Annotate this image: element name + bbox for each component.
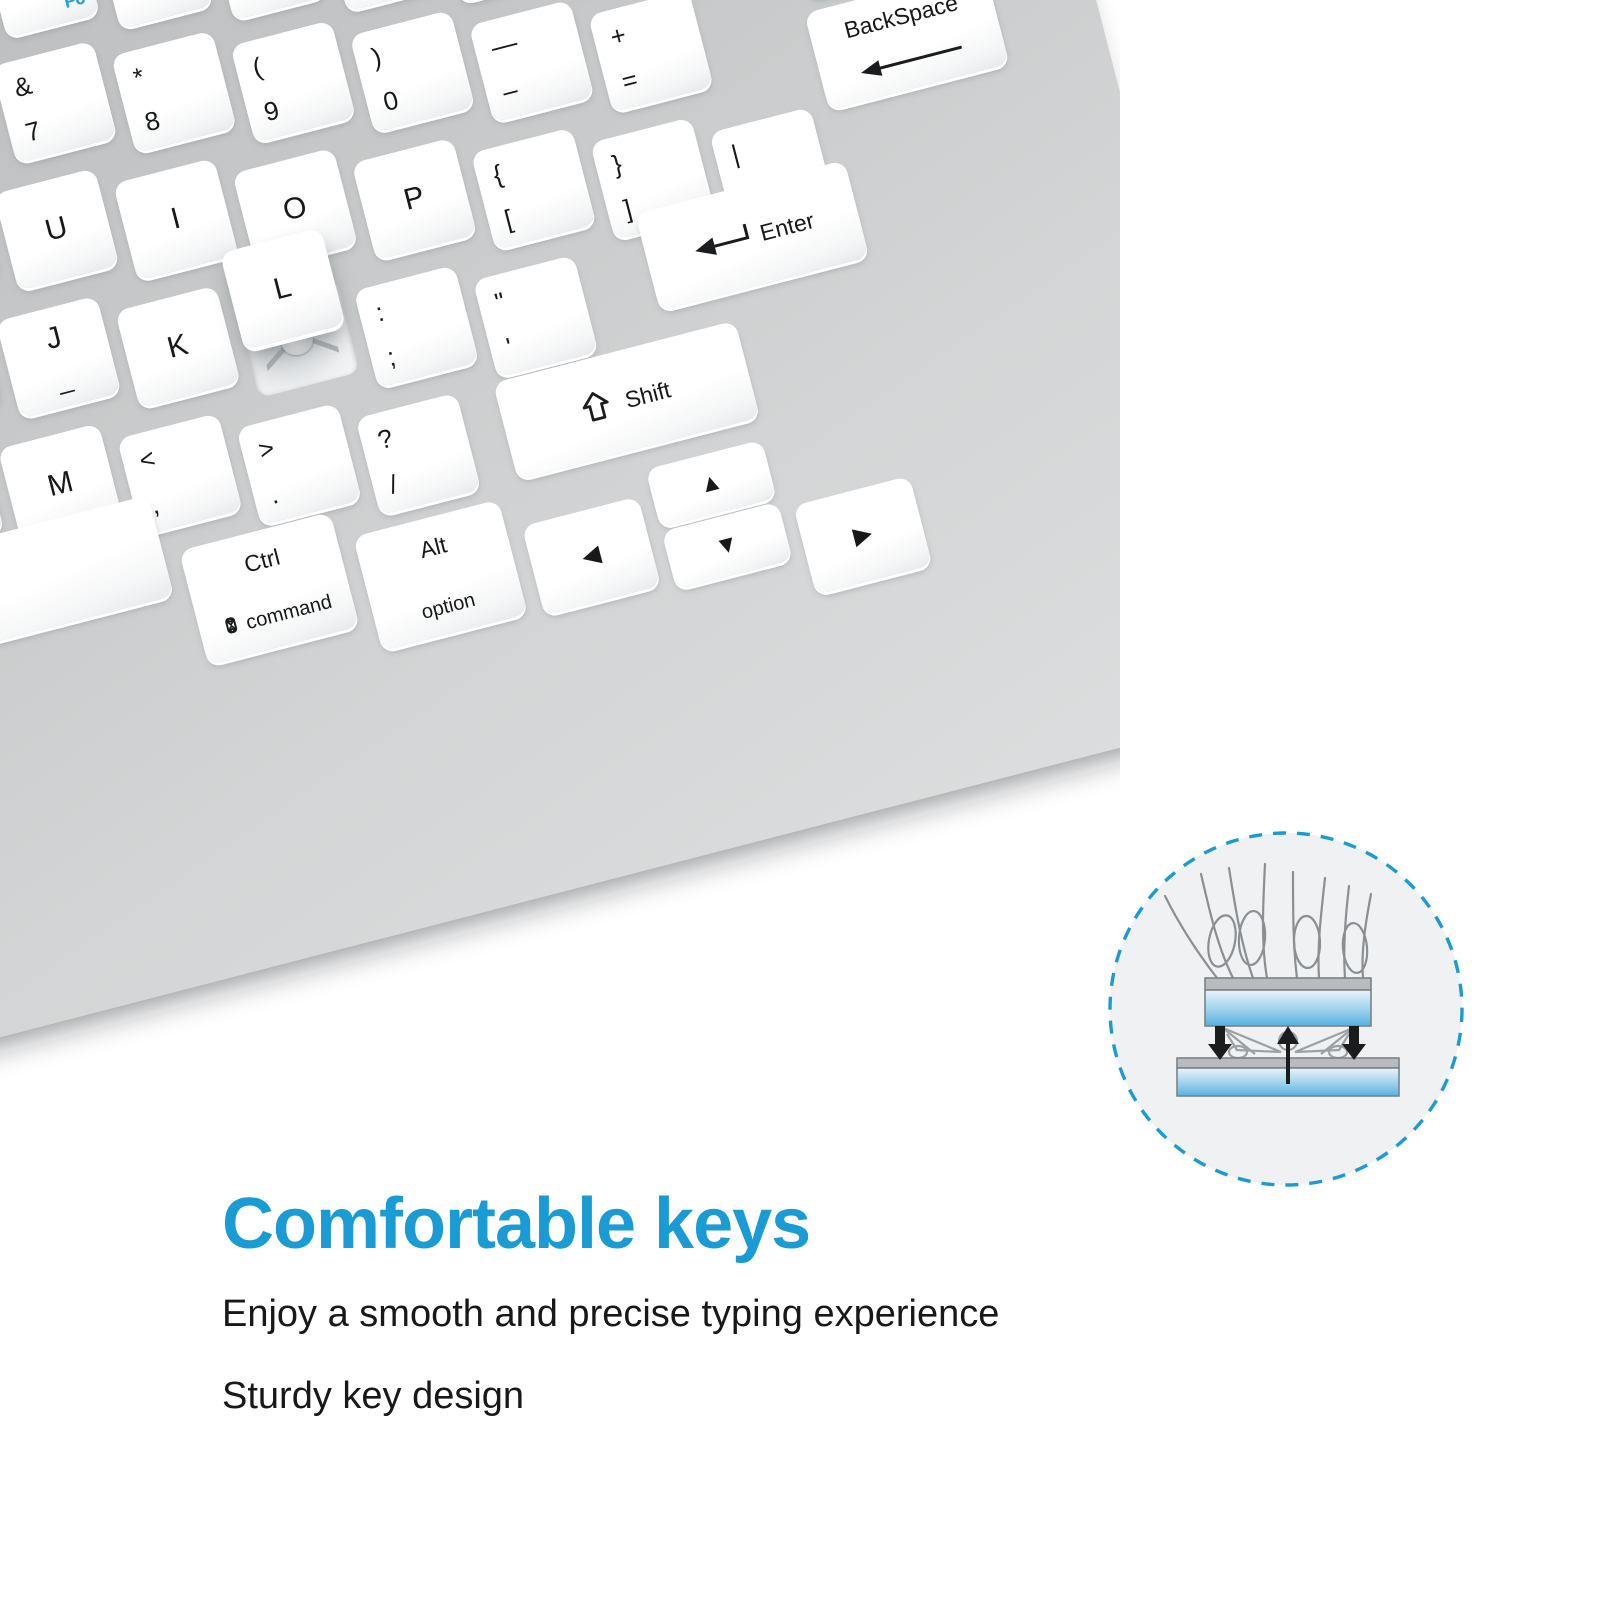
key-alt-label: Alt bbox=[358, 518, 509, 578]
key-equal-shift-label: + bbox=[607, 21, 628, 50]
key-slash-label: / bbox=[387, 471, 401, 498]
key-quote-shift-label: " bbox=[492, 288, 507, 315]
key-equal[interactable]: + = bbox=[588, 0, 714, 112]
key-ctrl-label: Ctrl bbox=[184, 530, 341, 591]
key-period[interactable]: > . bbox=[236, 403, 362, 526]
key-minus-shift-label: — bbox=[488, 29, 520, 61]
key-slash-shift-label: ? bbox=[375, 424, 396, 453]
key-j-underscore-label: _ bbox=[11, 354, 118, 405]
key-7-shift-label: & bbox=[11, 72, 34, 102]
key-backspace[interactable]: BackSpace bbox=[804, 0, 1009, 110]
key-bracket-right-label: ] bbox=[621, 195, 635, 222]
key-8[interactable]: * 8 bbox=[111, 30, 237, 153]
key-semicolon-label: ; bbox=[385, 343, 399, 370]
key-0-shift-label: ) bbox=[369, 43, 384, 70]
key-ctrl-command[interactable]: Ctrl command bbox=[179, 512, 360, 665]
marketing-copy-block: Comfortable keys Enjoy a smooth and prec… bbox=[222, 1188, 1382, 1458]
arrow-left-icon: ◀ bbox=[522, 496, 661, 615]
keyboard-product-photo: A bbox=[0, 0, 1120, 1090]
key-k[interactable]: K bbox=[115, 285, 241, 408]
key-alt-option[interactable]: Alt option bbox=[353, 499, 528, 651]
shift-arrow-icon bbox=[578, 388, 614, 429]
keycap-part bbox=[1205, 978, 1371, 1026]
key-command-content: command bbox=[198, 584, 356, 649]
key-7[interactable]: & 7 bbox=[0, 40, 117, 163]
key-7-label: 7 bbox=[23, 117, 44, 146]
key-command-label: command bbox=[244, 591, 335, 634]
key-p[interactable]: P bbox=[351, 137, 477, 260]
key-f7-fn-label: F7 bbox=[175, 0, 201, 4]
key-j[interactable]: J _ bbox=[0, 296, 121, 419]
key-8-shift-label: * bbox=[131, 63, 147, 91]
feature-line-2: Sturdy key design bbox=[222, 1376, 1382, 1418]
key-9-shift-label: ( bbox=[250, 53, 265, 80]
scissor-switch-callout bbox=[1105, 828, 1467, 1190]
key-bracket-left-shift-label: { bbox=[490, 161, 505, 188]
key-9-label: 9 bbox=[261, 96, 282, 125]
key-quote-label: ' bbox=[504, 334, 515, 360]
key-k-label: K bbox=[115, 285, 241, 408]
key-bracket-left[interactable]: { [ bbox=[471, 127, 597, 250]
feature-line-1: Enjoy a smooth and precise typing experi… bbox=[222, 1294, 1382, 1336]
arrow-right-icon: ▶ bbox=[793, 476, 932, 595]
key-semicolon[interactable]: : ; bbox=[353, 265, 479, 388]
key-p-label: P bbox=[351, 137, 477, 260]
key-8-label: 8 bbox=[142, 107, 163, 136]
key-backslash-shift-label: | bbox=[729, 141, 742, 168]
key-slash[interactable]: ? / bbox=[355, 393, 481, 516]
key-i[interactable]: I bbox=[113, 158, 239, 281]
key-9[interactable]: ( 9 bbox=[230, 20, 356, 143]
key-f10[interactable]: F10 bbox=[439, 0, 553, 3]
key-enter-label: Enter bbox=[758, 208, 817, 244]
key-option-label: option bbox=[373, 578, 523, 635]
key-f8[interactable]: ▶‖ F8 bbox=[212, 0, 326, 20]
key-comma-shift-label: < bbox=[137, 445, 158, 474]
key-0[interactable]: ) 0 bbox=[349, 10, 475, 133]
key-f6[interactable]: F6 bbox=[0, 0, 100, 38]
key-shift-label: Shift bbox=[623, 378, 673, 412]
key-bracket-right-shift-label: } bbox=[610, 150, 625, 177]
key-semicolon-shift-label: : bbox=[373, 299, 387, 326]
key-f9[interactable]: ▶▶ F9 bbox=[326, 0, 440, 12]
key-quote[interactable]: " ' bbox=[473, 255, 599, 378]
key-f7[interactable]: ◀◀ F7 bbox=[99, 0, 213, 29]
key-period-shift-label: > bbox=[256, 434, 277, 463]
key-u[interactable]: U bbox=[0, 168, 119, 291]
key-u-label: U bbox=[0, 168, 119, 291]
key-arrow-right[interactable]: ▶ bbox=[793, 476, 932, 595]
key-equal-label: = bbox=[619, 66, 640, 95]
page-title: Comfortable keys bbox=[222, 1188, 1382, 1260]
enter-arrow-icon bbox=[687, 221, 755, 267]
key-0-label: 0 bbox=[381, 86, 402, 115]
key-arrow-left[interactable]: ◀ bbox=[522, 496, 661, 615]
key-f6-fn-label: F6 bbox=[62, 0, 88, 12]
keyboard-key-frame: A bbox=[0, 0, 1120, 1090]
key-minus[interactable]: — – bbox=[469, 0, 595, 123]
key-i-label: I bbox=[113, 158, 239, 281]
key-bracket-left-label: [ bbox=[502, 205, 516, 232]
key-minus-label: – bbox=[500, 76, 521, 105]
key-period-label: . bbox=[267, 481, 281, 508]
